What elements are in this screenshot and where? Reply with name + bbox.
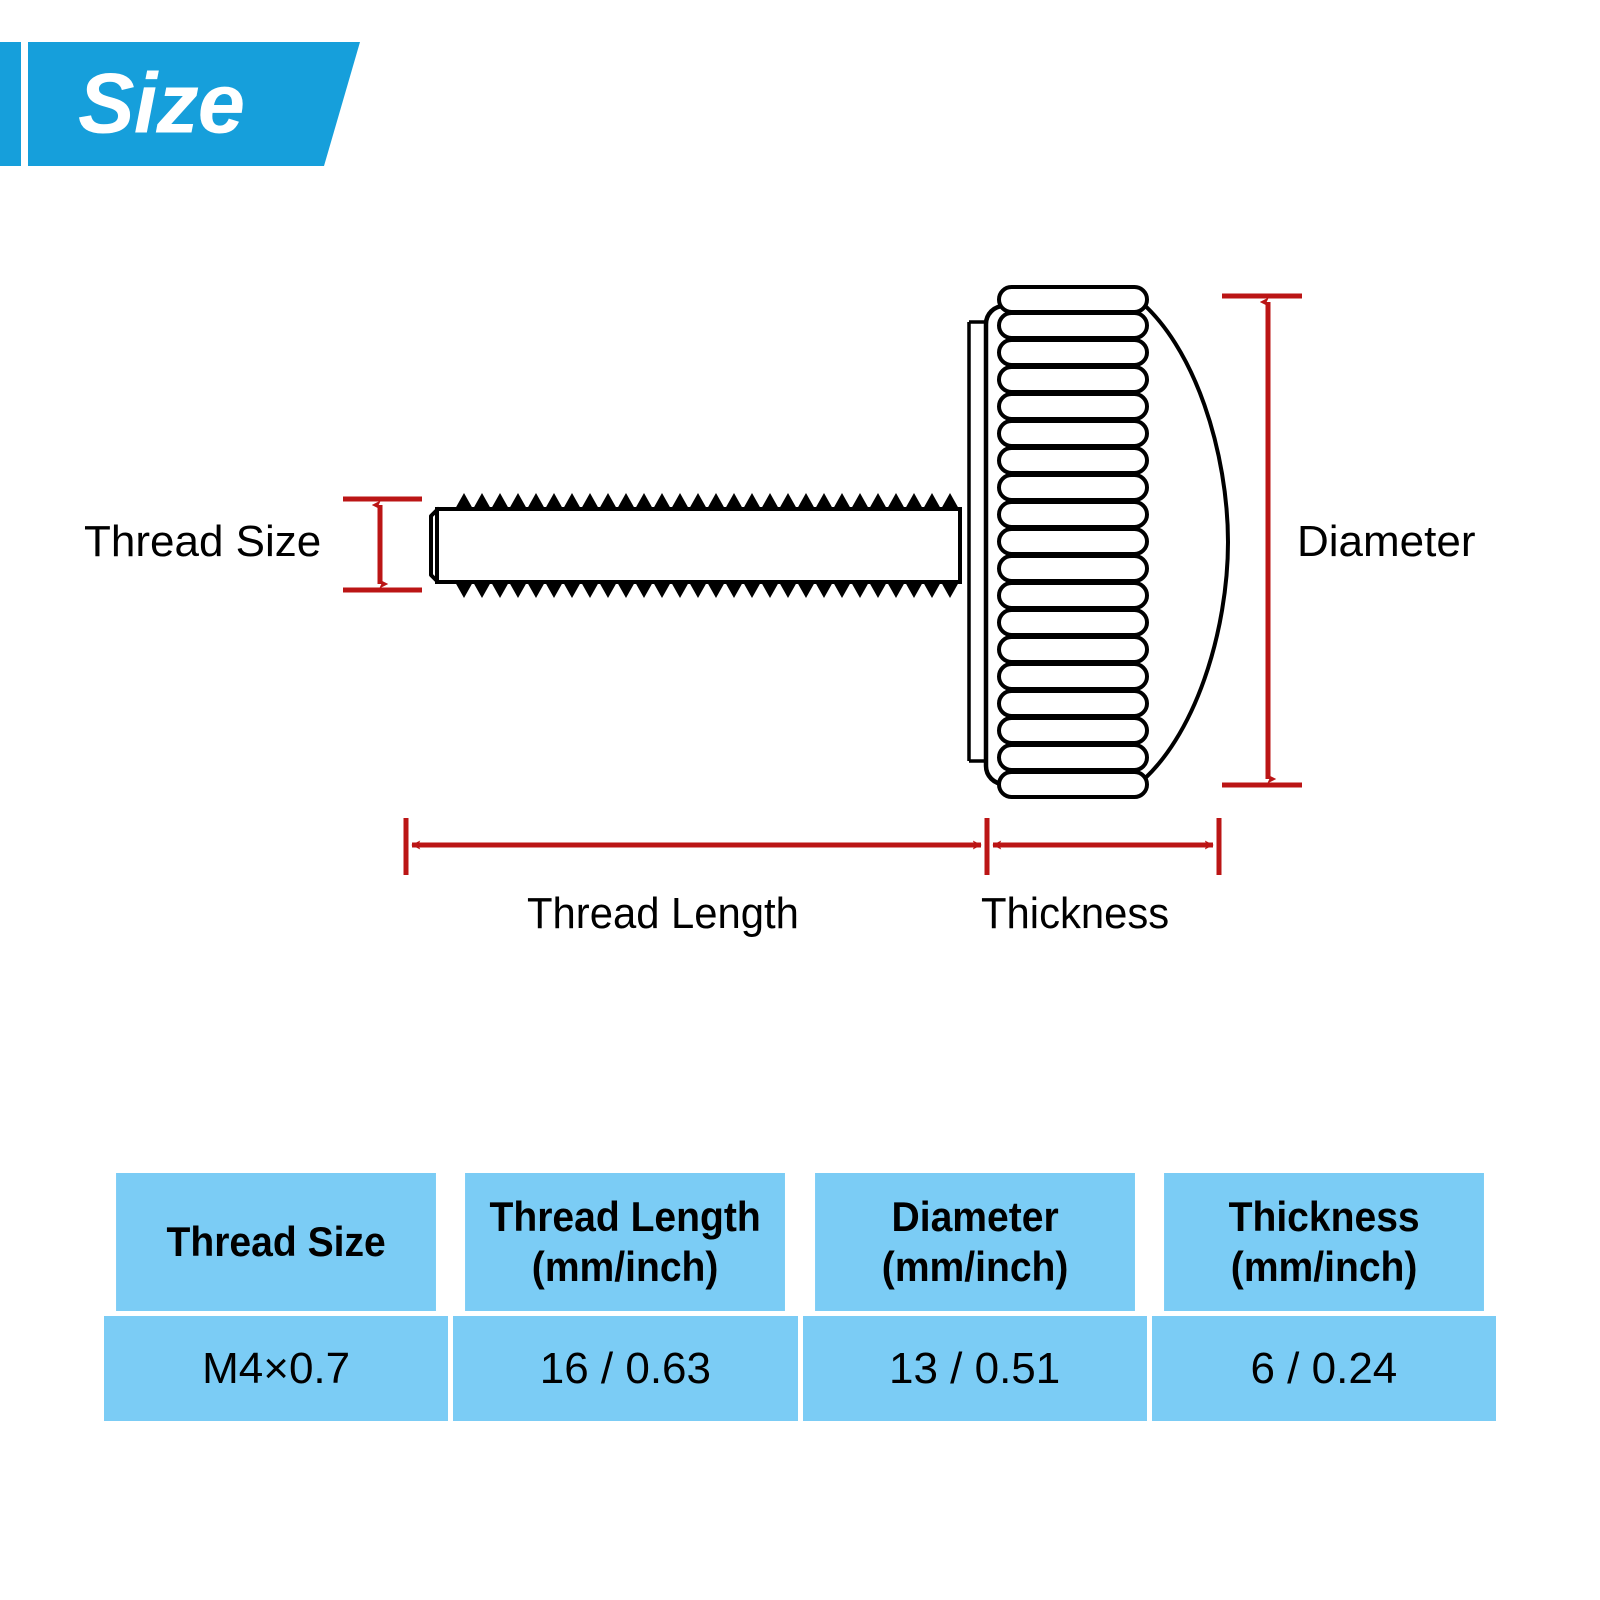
header-line-2: (mm/inch) [465,1242,785,1292]
shaft-body [437,509,960,582]
header-line-1: Thread Length [465,1192,785,1242]
column-header-thickness: Thickness (mm/inch) [1164,1173,1484,1311]
cell-thickness: 6 / 0.24 [1152,1316,1496,1421]
shaft-thread-teeth-top [455,493,959,509]
spec-table: Thread Size Thread Length (mm/inch) Diam… [99,1168,1501,1426]
cell-diameter: 13 / 0.51 [803,1316,1147,1421]
header-line-2: (mm/inch) [1164,1242,1484,1292]
dimension-thread-length [406,818,987,875]
cell-thread-size: M4×0.7 [104,1316,448,1421]
column-header-diameter: Diameter (mm/inch) [815,1173,1135,1311]
header-line-2: (mm/inch) [815,1242,1135,1292]
dimension-thickness [993,818,1219,875]
header-line-1: Thread Size [116,1217,436,1267]
header-line-1: Diameter [815,1192,1135,1242]
thumb-screw-diagram [0,0,1600,1010]
column-header-thread-size: Thread Size [116,1173,436,1311]
table-header-row: Thread Size Thread Length (mm/inch) Diam… [104,1173,1496,1311]
knurled-head [969,287,1228,797]
dimension-thread-size [343,499,422,590]
shaft-thread-teeth-bottom [455,582,959,598]
label-diameter: Diameter [1297,520,1476,564]
dimension-diameter [1222,296,1302,785]
column-header-thread-length: Thread Length (mm/inch) [465,1173,785,1311]
cell-thread-length: 16 / 0.63 [453,1316,797,1421]
label-thread-length: Thread Length [527,892,799,936]
label-thickness: Thickness [981,892,1169,936]
head-back-edge-caps [969,322,985,761]
threaded-shaft [431,493,960,598]
table-row: M4×0.7 16 / 0.63 13 / 0.51 6 / 0.24 [104,1316,1496,1421]
header-line-1: Thickness [1164,1192,1484,1242]
head-knurl-ridges [999,287,1147,797]
label-thread-size: Thread Size [84,520,321,564]
